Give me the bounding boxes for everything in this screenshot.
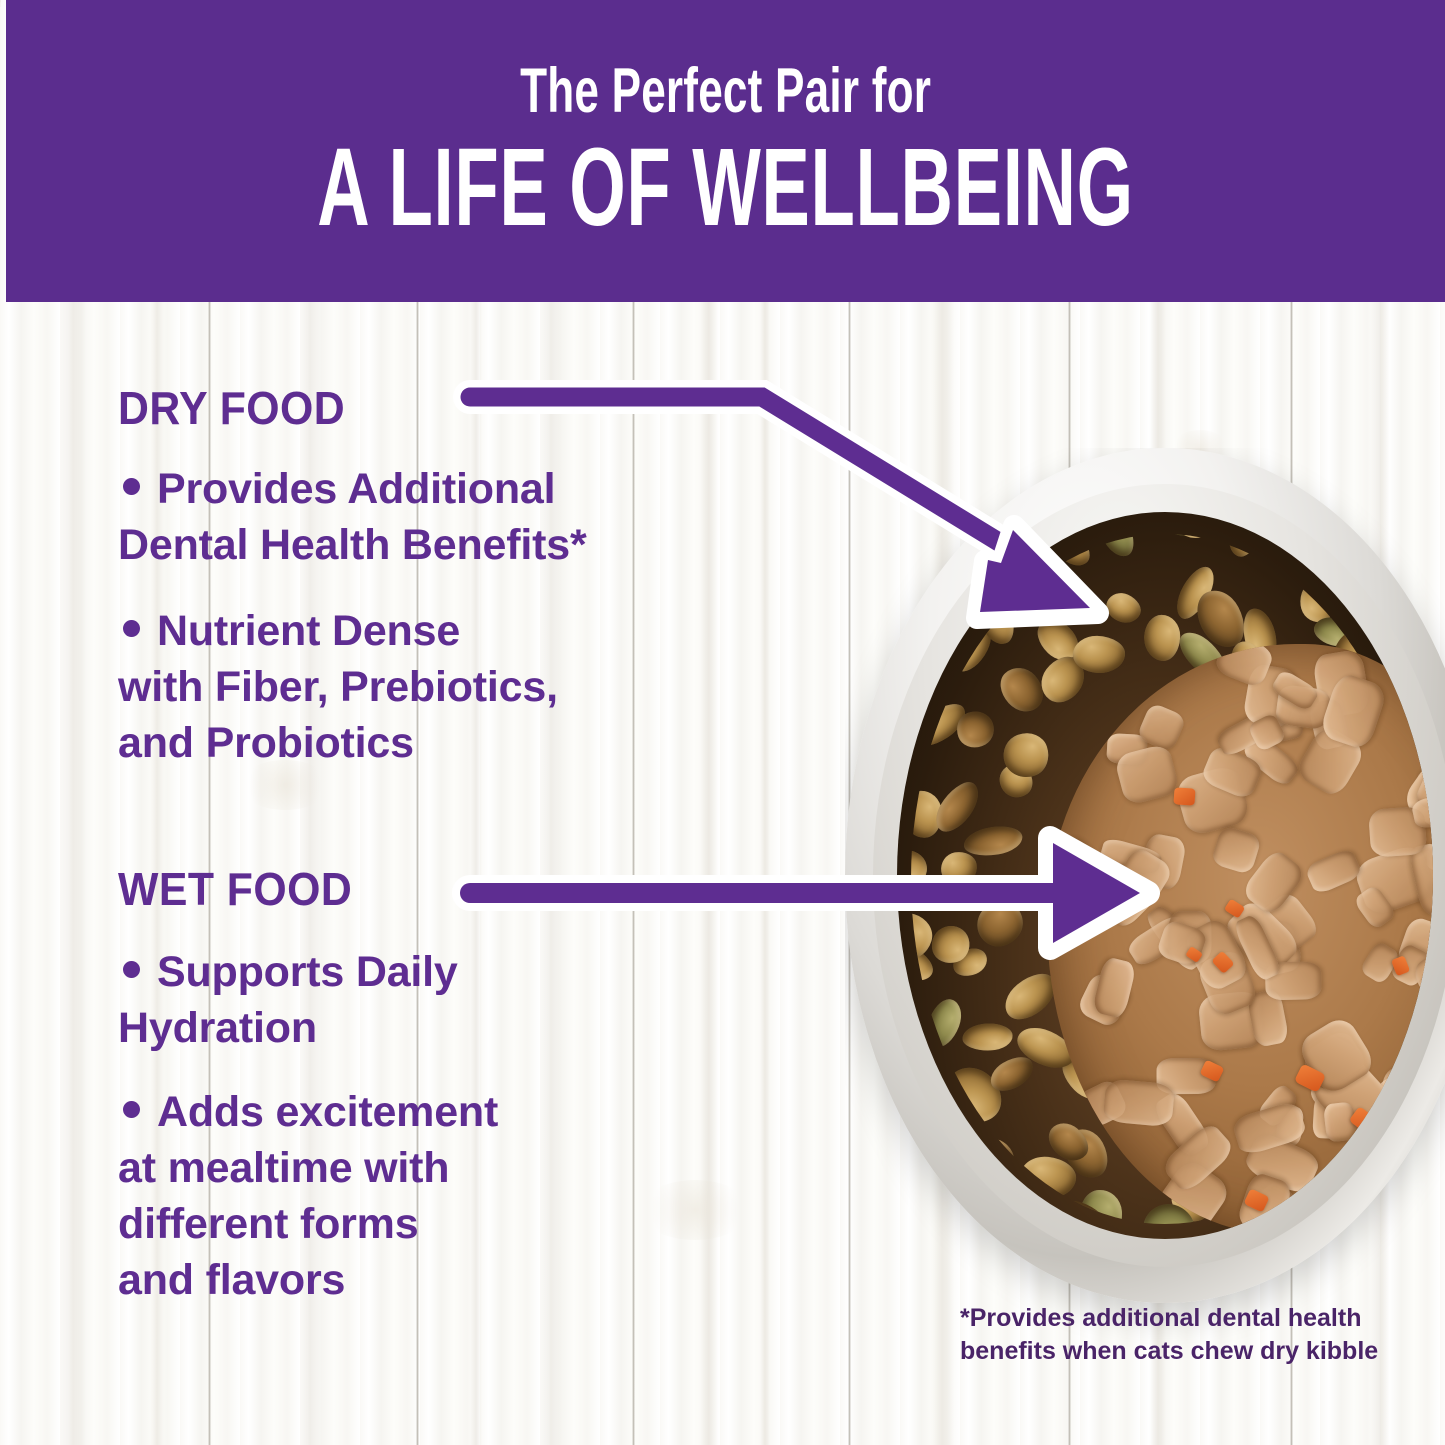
wet-food-chunk [1210, 824, 1262, 875]
section-heading-dry-food: DRY FOOD [118, 381, 345, 435]
wet-food-chunk [1304, 847, 1363, 896]
kibble-piece [1102, 588, 1145, 628]
banner-line-2: A LIFE OF WELLBEING [317, 133, 1133, 243]
banner-line-1: The Perfect Pair for [520, 60, 931, 123]
bullet-dry-1-line-2: Dental Health Benefits* [118, 521, 587, 569]
header-banner: The Perfect Pair for A LIFE OF WELLBEING [6, 0, 1445, 302]
kibble-piece [1091, 534, 1140, 561]
bowl-interior [897, 512, 1433, 1239]
kibble-piece [1144, 615, 1180, 662]
bullet-dry-2-line-2: with Fiber, Prebiotics, [118, 663, 558, 711]
wet-food-chunk [1309, 1186, 1362, 1234]
kibble-piece [911, 847, 930, 891]
bullet-dot-icon [123, 961, 140, 978]
bullet-dot-icon [123, 620, 140, 637]
bullet-wet-2-line-4: and flavors [118, 1256, 345, 1304]
kibble-piece [962, 823, 1024, 859]
footnote-line-2: benefits when cats chew dry kibble [960, 1337, 1378, 1365]
kibble-piece [939, 850, 980, 888]
promo-graphic: The Perfect Pair for A LIFE OF WELLBEING [0, 0, 1445, 1445]
kibble-piece [1073, 635, 1126, 674]
kibble-piece [921, 995, 966, 1051]
wet-food-chunk [1102, 1078, 1175, 1127]
bullet-dry-1-line-1: Provides Additional [157, 465, 555, 513]
bullet-dry-2: Nutrient Dense with Fiber, Prebiotics, a… [118, 604, 758, 772]
bullet-dot-icon [123, 1101, 140, 1118]
section-heading-wet-food: WET FOOD [118, 862, 352, 916]
bullet-wet-2-line-3: different forms [118, 1200, 418, 1248]
bullet-dot-icon [123, 478, 140, 495]
kibble-piece [1224, 534, 1267, 561]
bullet-wet-1-line-1: Supports Daily [157, 948, 458, 996]
bullet-wet-1: Supports Daily Hydration [118, 945, 758, 1057]
bullet-wet-1-line-2: Hydration [118, 1004, 317, 1052]
kibble-piece [1169, 534, 1224, 544]
carrot-piece [1174, 787, 1196, 805]
bullet-wet-2-line-1: Adds excitement [157, 1088, 498, 1136]
bullet-wet-2-line-2: at mealtime with [118, 1144, 449, 1192]
wet-food-chunk [1343, 1165, 1375, 1193]
footnote-line-1: *Provides additional dental health [960, 1304, 1361, 1332]
bullet-dry-2-line-1: Nutrient Dense [157, 607, 460, 655]
pet-food-bowl-photo [845, 448, 1445, 1348]
bullet-dry-2-line-3: and Probiotics [118, 719, 414, 767]
kibble-piece [969, 891, 1032, 955]
wet-food-chunk [1091, 956, 1136, 1019]
bullet-wet-2: Adds excitement at mealtime with differe… [118, 1085, 758, 1309]
kibble-piece [962, 1023, 1012, 1051]
bullet-dry-1: Provides Additional Dental Health Benefi… [118, 462, 758, 574]
footnote: *Provides additional dental health benef… [960, 1302, 1380, 1368]
